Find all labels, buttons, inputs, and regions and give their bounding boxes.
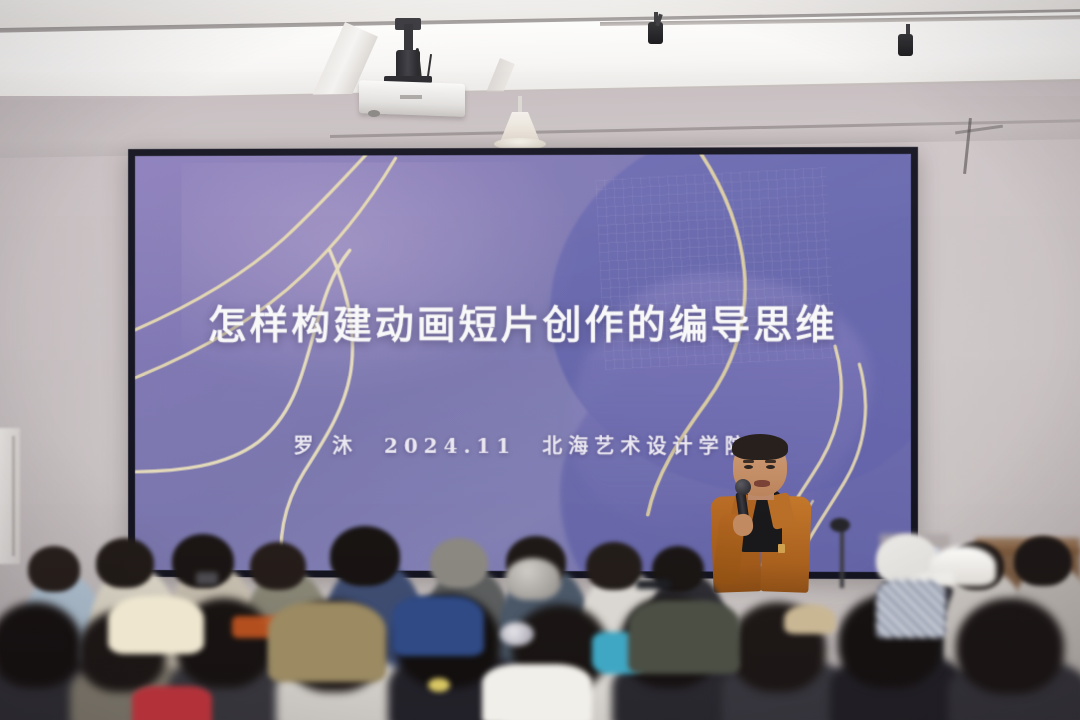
red-accent-top <box>132 686 212 720</box>
audience-member-head <box>1014 536 1072 586</box>
audience-member-head <box>330 526 400 586</box>
hair-ornament <box>500 622 534 646</box>
lecture-hall-photo: 怎样构建动画短片创作的编导思维 罗 沐 2024.11 北海艺术设计学院 <box>0 0 1080 720</box>
white-hoodie <box>482 664 592 720</box>
cream-collar <box>108 596 204 654</box>
projector-vent <box>400 95 422 99</box>
presenter-mouth <box>754 480 770 487</box>
audience-member-head <box>96 538 154 588</box>
presenter-hair <box>732 434 788 460</box>
khaki-jacket <box>268 602 386 682</box>
dark-olive-jacket <box>628 600 740 674</box>
audience-member-head <box>28 546 80 592</box>
blue-jacket <box>392 596 484 656</box>
presenter-eye-right <box>766 465 775 469</box>
presenter-eye-left <box>744 465 753 469</box>
audience-member-head <box>250 542 306 590</box>
audience-member-head <box>586 542 642 590</box>
hair-clip <box>196 572 218 585</box>
projector-lens-icon <box>368 110 380 117</box>
glasses <box>636 580 670 589</box>
yellow-hair-tie <box>428 678 450 692</box>
presenter-brow-left <box>743 460 754 463</box>
patterned-shirt <box>876 580 946 638</box>
tan-cap <box>784 604 836 634</box>
track-spotlight-icon-right <box>898 34 913 56</box>
slide-title: 怎样构建动画短片创作的编导思维 <box>135 294 912 350</box>
grey-knit-beanie <box>505 558 561 600</box>
audience-member-head <box>0 602 82 688</box>
presenter-brow-right <box>765 460 776 463</box>
audience-member-head <box>956 598 1064 694</box>
audience-member-head <box>430 538 488 588</box>
